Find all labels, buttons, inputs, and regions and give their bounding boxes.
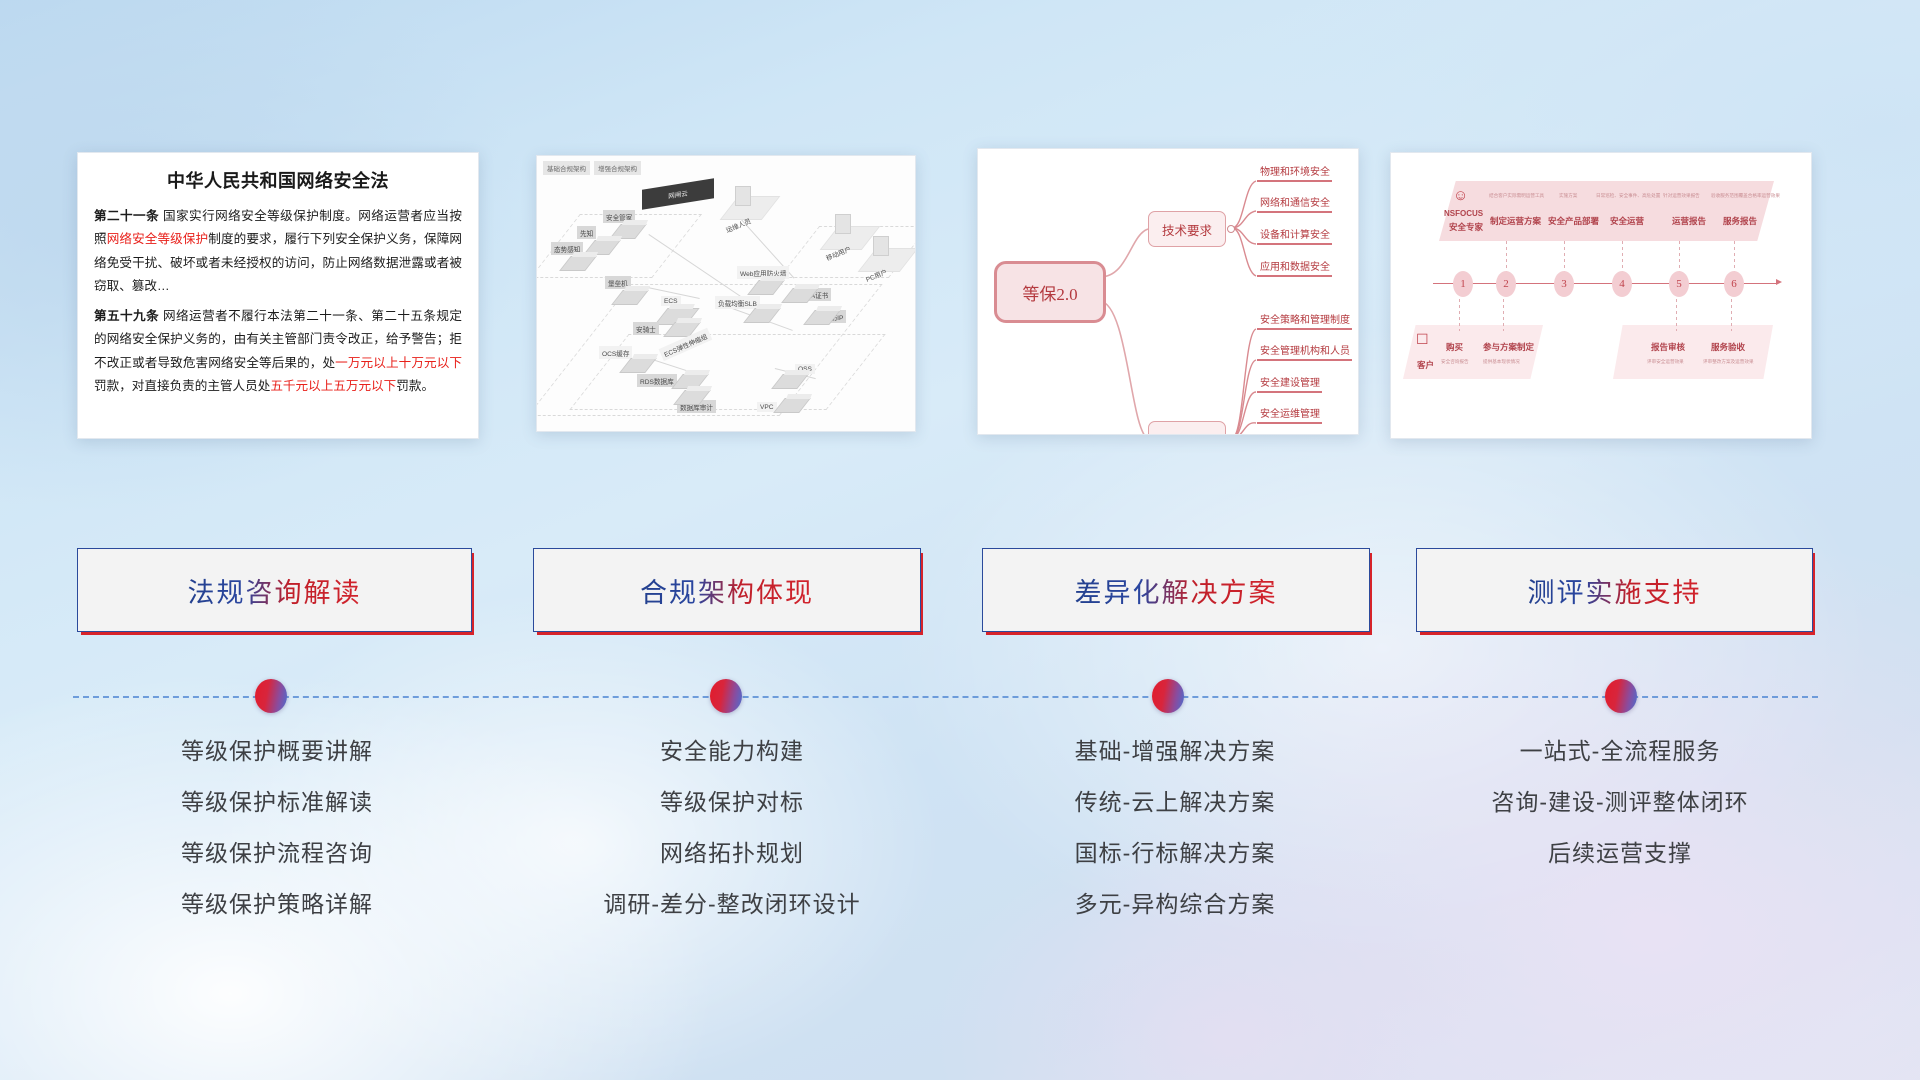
arch-doc-ops — [735, 186, 751, 206]
nsfocus-timeline: ☺ NSFOCUS 安全专家 结合客户实际需明运营工具 制定运营方案 实施方案 … — [1391, 153, 1811, 438]
detail-item: 调研-差分-整改闭环设计 — [512, 893, 952, 916]
detail-item: 等级保护标准解读 — [57, 791, 497, 814]
bottom-step-4-sub: 评审整改方案及运营效果 — [1703, 359, 1754, 365]
article-59-text-b: 罚款，对直接负责的主管人员处 — [94, 379, 270, 393]
mindmap-branch-management: 管理要求 — [1148, 421, 1226, 435]
headline-label-3: 差异化解决方案 — [1075, 571, 1278, 610]
timeline-step-1: 1 — [1453, 271, 1473, 297]
detail-item: 等级保护概要讲解 — [57, 740, 497, 763]
link-step-3 — [1564, 241, 1565, 275]
arch-doc-mobile — [835, 214, 851, 234]
arch-node-ocs-cache: OCS缓存 — [599, 346, 632, 359]
customer-person-icon: ☐ — [1416, 331, 1429, 348]
article-59-highlight-2: 五千元以上五万元以下 — [270, 379, 396, 393]
customer-banner-right — [1613, 325, 1773, 379]
card-cybersecurity-law: 中华人民共和国网络安全法 第二十一条 国家实行网络安全等级保护制度。网络运营者应… — [77, 152, 479, 439]
headline-box-4[interactable]: 测评实施支持 — [1416, 548, 1813, 632]
detail-column-1: 等级保护概要讲解 等级保护标准解读 等级保护流程咨询 等级保护策略详解 — [57, 740, 497, 944]
detail-item: 咨询-建设-测评整体闭环 — [1400, 791, 1840, 814]
timeline-marker-3[interactable] — [1152, 679, 1184, 713]
arch-doc-pc — [873, 236, 889, 256]
mindmap-root: 等保2.0 — [994, 261, 1106, 323]
mindmap-leaf-app-data: 应用和数据安全 — [1257, 258, 1332, 277]
article-21-label: 第二十一条 — [94, 209, 159, 223]
headline-box-3[interactable]: 差异化解决方案 — [982, 548, 1370, 632]
detail-item: 多元-异构综合方案 — [955, 893, 1395, 916]
detail-item: 安全能力构建 — [512, 740, 952, 763]
mindmap-leaf-network-comm: 网络和通信安全 — [1257, 194, 1332, 213]
top-step-1-sub: 结合客户实际需明运营工具 — [1489, 193, 1544, 199]
detail-item: 后续运营支撑 — [1400, 842, 1840, 865]
detail-item: 基础-增强解决方案 — [955, 740, 1395, 763]
bottom-step-1-sub: 安全咨询报告 — [1441, 359, 1469, 365]
mindmap-leaf-physical-env: 物理和环境安全 — [1257, 163, 1332, 182]
timeline-step-3: 3 — [1554, 271, 1574, 297]
expert-label-line2: 安全专家 — [1449, 221, 1483, 233]
top-step-5-title: 服务报告 — [1723, 215, 1757, 227]
card-compliance-architecture: 基础合规架构 增强合规架构 网闸云 安全管家 先知 — [536, 155, 916, 432]
detail-item: 网络拓扑规划 — [512, 842, 952, 865]
detail-column-4: 一站式-全流程服务 咨询-建设-测评整体闭环 后续运营支撑 — [1400, 740, 1840, 893]
timeline-step-2: 2 — [1496, 271, 1516, 297]
link-step-4 — [1622, 241, 1623, 275]
article-59-text-c: 罚款。 — [396, 379, 434, 393]
detail-item: 等级保护流程咨询 — [57, 842, 497, 865]
mindmap-leaf-construction-mgmt: 安全建设管理 — [1257, 374, 1322, 393]
top-step-3-sub: 日常巡检、安全事件、高危处置 — [1596, 193, 1660, 199]
headline-box-2[interactable]: 合规架构体现 — [533, 548, 921, 632]
timeline-marker-2[interactable] — [710, 679, 742, 713]
architecture-tag-row: 基础合规架构 增强合规架构 — [543, 161, 641, 175]
timeline-arrow-icon — [1776, 279, 1782, 285]
expert-person-icon: ☺ — [1453, 187, 1468, 204]
mindmap-leaf-org-personnel: 安全管理机构和人员 — [1257, 342, 1352, 361]
mindmap-leaf-ops-mgmt: 安全运维管理 — [1257, 405, 1322, 424]
expert-label-line1: NSFOCUS — [1444, 209, 1483, 218]
bottom-step-3-title: 报告审核 — [1651, 341, 1685, 353]
top-step-5-sub: 验收服务范围覆盖合格率运营效果 — [1711, 193, 1780, 199]
headline-box-1[interactable]: 法规咨询解读 — [77, 548, 472, 632]
tag-basic-arch: 基础合规架构 — [543, 161, 590, 175]
card-nsfocus-service-timeline: ☺ NSFOCUS 安全专家 结合客户实际需明运营工具 制定运营方案 实施方案 … — [1390, 152, 1812, 439]
top-step-2-sub: 实施方案 — [1559, 193, 1577, 199]
mindmap: 等保2.0 技术要求 物理和环境安全 网络和通信安全 设备和计算安全 应用和数据… — [978, 149, 1358, 434]
bottom-step-3-sub: 评审安全运营效果 — [1647, 359, 1684, 365]
detail-item: 等级保护对标 — [512, 791, 952, 814]
law-title: 中华人民共和国网络安全法 — [94, 167, 462, 193]
arch-node-label: RDS数据库 — [637, 374, 677, 387]
arch-node-label: 负载均衡SLB — [715, 296, 760, 309]
timeline-step-5: 5 — [1669, 271, 1689, 297]
bottom-step-4-title: 服务验收 — [1711, 341, 1745, 353]
link-step-2 — [1506, 241, 1507, 275]
card-dengbao-mindmap: 等保2.0 技术要求 物理和环境安全 网络和通信安全 设备和计算安全 应用和数据… — [977, 148, 1359, 435]
detail-item: 等级保护策略详解 — [57, 893, 497, 916]
detail-item: 一站式-全流程服务 — [1400, 740, 1840, 763]
mindmap-leaf-device-compute: 设备和计算安全 — [1257, 226, 1332, 245]
top-step-4-title: 运营报告 — [1672, 215, 1706, 227]
image-card-row: 中华人民共和国网络安全法 第二十一条 国家实行网络安全等级保护制度。网络运营者应… — [0, 0, 1920, 460]
top-step-4-sub: 针对运营效果报告 — [1663, 193, 1700, 199]
arch-node-label: 安骑士 — [633, 322, 659, 335]
architecture-diagram: 基础合规架构 增强合规架构 网闸云 安全管家 先知 — [537, 156, 915, 431]
article-59-label: 第五十九条 — [94, 309, 159, 323]
headline-label-4: 测评实施支持 — [1528, 571, 1702, 610]
tag-cloud-gateway: 网闸云 — [642, 178, 714, 209]
arch-node-label: 先知 — [577, 226, 596, 239]
arch-node-label: OCS缓存 — [599, 346, 632, 359]
customer-label: 客户 — [1417, 359, 1434, 371]
top-step-1-title: 制定运营方案 — [1490, 215, 1541, 227]
link-bottom-1 — [1459, 299, 1460, 331]
tag-enhanced-arch: 增强合规架构 — [594, 161, 641, 175]
top-step-3-title: 安全运营 — [1610, 215, 1644, 227]
bottom-step-2-sub: 提供基本现状情况 — [1483, 359, 1520, 365]
slide-stage: 中华人民共和国网络安全法 第二十一条 国家实行网络安全等级保护制度。网络运营者应… — [0, 0, 1920, 1080]
mindmap-dot-technical — [1227, 225, 1235, 233]
mindmap-leaf-policy-system: 安全策略和管理制度 — [1257, 311, 1352, 330]
arch-node-rds: RDS数据库 — [637, 374, 677, 387]
timeline-marker-4[interactable] — [1605, 679, 1637, 713]
article-59-highlight-1: 一万元以上十万元以下 — [335, 356, 462, 370]
law-body: 中华人民共和国网络安全法 第二十一条 国家实行网络安全等级保护制度。网络运营者应… — [78, 153, 478, 438]
headline-label-1: 法规咨询解读 — [188, 571, 362, 610]
detail-item: 传统-云上解决方案 — [955, 791, 1395, 814]
mindmap-branch-technical: 技术要求 — [1148, 211, 1226, 247]
link-step-6 — [1734, 241, 1735, 275]
timeline-step-6: 6 — [1724, 271, 1744, 297]
link-bottom-6 — [1731, 299, 1732, 331]
top-step-2-title: 安全产品部署 — [1548, 215, 1599, 227]
detail-column-2: 安全能力构建 等级保护对标 网络拓扑规划 调研-差分-整改闭环设计 — [512, 740, 952, 944]
bottom-step-2-title: 参与方案制定 — [1483, 341, 1534, 353]
arch-node-anqishi: 安骑士 — [633, 322, 659, 335]
bottom-step-1-title: 购买 — [1446, 341, 1463, 353]
link-step-5 — [1679, 241, 1680, 275]
detail-item: 国标-行标解决方案 — [955, 842, 1395, 865]
article-21-highlight: 网络安全等级保护 — [107, 232, 209, 246]
law-article-59: 第五十九条 网络运营者不履行本法第二十一条、第二十五条规定的网络安全保护义务的，… — [94, 305, 462, 398]
detail-column-3: 基础-增强解决方案 传统-云上解决方案 国标-行标解决方案 多元-异构综合方案 — [955, 740, 1395, 944]
law-article-21: 第二十一条 国家实行网络安全等级保护制度。网络运营者应当按照网络安全等级保护制度… — [94, 205, 462, 298]
timeline-dashed-line — [73, 696, 1818, 698]
nsfocus-expert-banner — [1439, 181, 1774, 241]
arch-node-xianzhi: 先知 — [577, 226, 596, 239]
link-bottom-5 — [1676, 299, 1677, 331]
timeline-marker-1[interactable] — [255, 679, 287, 713]
headline-label-2: 合规架构体现 — [640, 571, 814, 610]
timeline-step-4: 4 — [1612, 271, 1632, 297]
link-bottom-2 — [1503, 299, 1504, 331]
arch-node-slb: 负载均衡SLB — [715, 296, 760, 309]
